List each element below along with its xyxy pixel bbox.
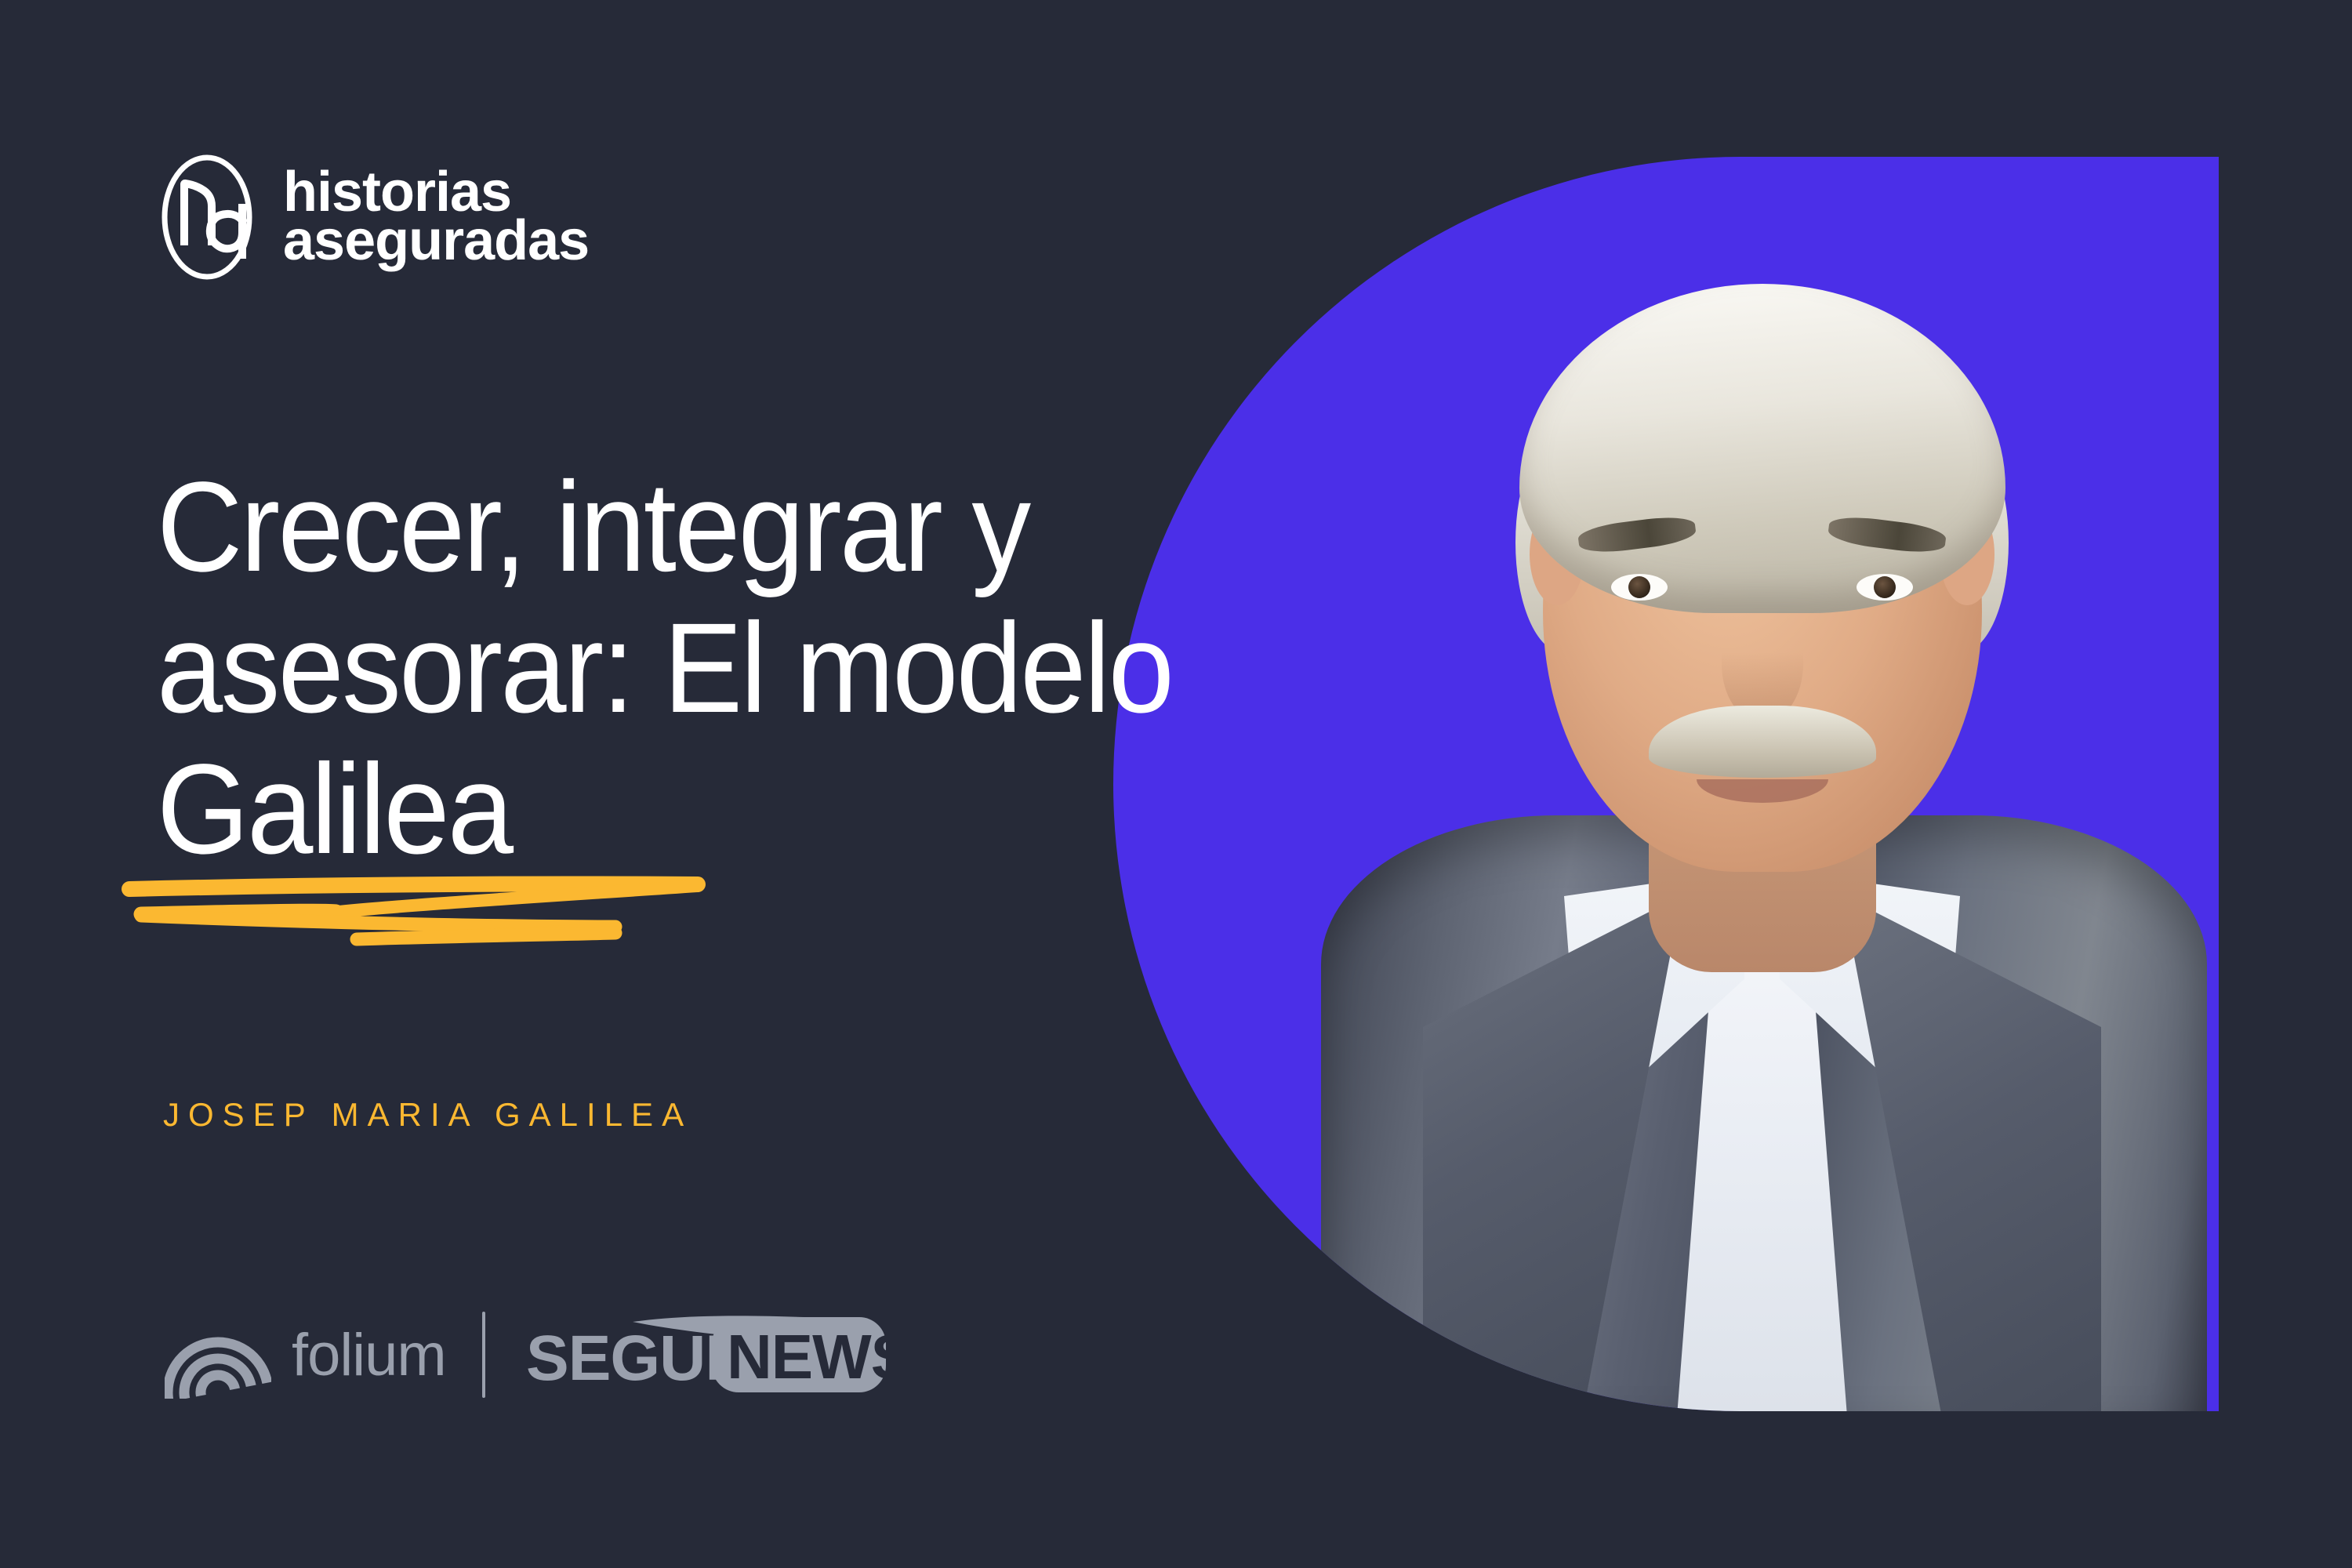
folium-concentric-arcs-icon (165, 1311, 271, 1399)
cover-graphic: historias aseguradas Crecer, integrar y … (0, 0, 2352, 1568)
hand-drawn-scribble-underline-icon (122, 869, 749, 955)
author-name: JOSEP MARIA GALILEA (163, 1096, 692, 1134)
vertical-divider-icon (482, 1312, 485, 1398)
ha-circle-monogram-icon (161, 153, 253, 281)
page-title: Crecer, integrar y asesorar: El modelo G… (157, 456, 1294, 880)
footer-logos: folium SEGUROS NEWS (165, 1308, 890, 1402)
brand-lockup: historias aseguradas (161, 153, 589, 281)
seguros-news-logo: SEGUROS NEWS (521, 1308, 890, 1402)
news-word: NEWS (727, 1322, 890, 1392)
folium-logo: folium (165, 1311, 446, 1399)
folium-wordmark: folium (292, 1321, 446, 1389)
brand-wordmark: historias aseguradas (283, 169, 589, 266)
